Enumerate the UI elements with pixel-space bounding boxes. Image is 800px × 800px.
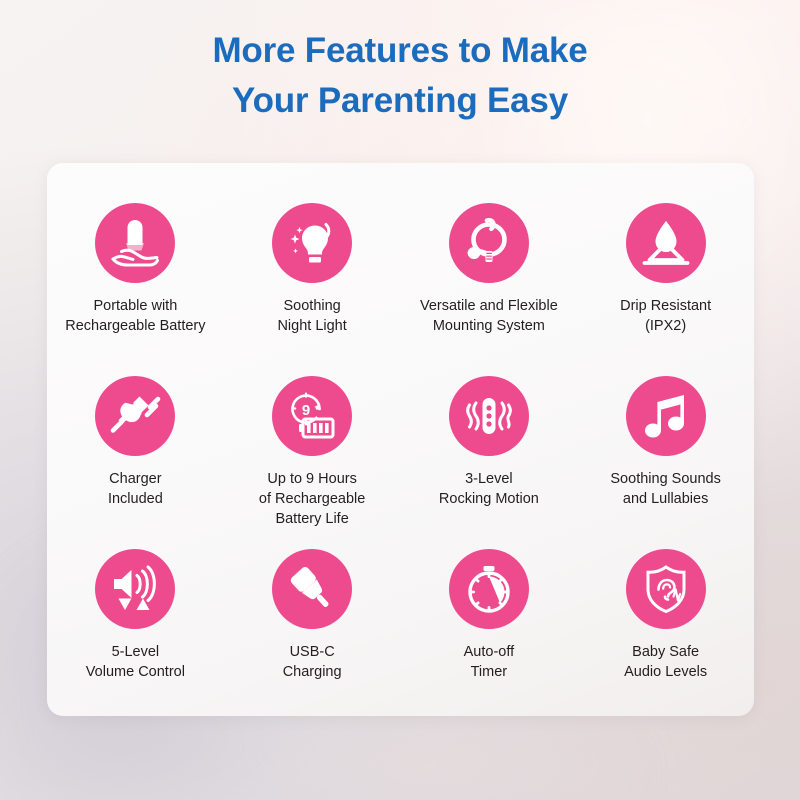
power-plug-icon [95,376,175,456]
features-card: Portable with Rechargeable Battery Sooth… [47,163,754,716]
portable-device-in-hand-icon [95,203,175,283]
page-title-line-2: Your Parenting Easy [0,76,800,126]
feature-item: Portable with Rechargeable Battery [47,193,224,366]
feature-label: Versatile and Flexible Mounting System [420,296,558,336]
feature-item: USB-C Charging [224,539,401,712]
page-title: More Features to Make Your Parenting Eas… [0,26,800,125]
feature-label: Baby Safe Audio Levels [624,642,707,682]
feature-item: 3-Level Rocking Motion [401,366,578,539]
feature-label: Portable with Rechargeable Battery [65,296,205,336]
feature-label: Auto-off Timer [464,642,515,682]
feature-label: Soothing Sounds and Lullabies [610,469,720,509]
feature-item: Auto-off Timer [401,539,578,712]
feature-label: Soothing Night Light [277,296,346,336]
feature-label: Up to 9 Hours of Rechargeable Battery Li… [259,469,365,529]
feature-item: Baby Safe Audio Levels [577,539,754,712]
feature-label: USB-C Charging [283,642,342,682]
feature-label: Drip Resistant (IPX2) [620,296,711,336]
feature-label: Charger Included [108,469,163,509]
feature-label: 5-Level Volume Control [86,642,185,682]
feature-item: 9 Up to 9 Hours of Rechargeable Battery … [224,366,401,539]
clock-battery-9-hours-icon: 9 [272,376,352,456]
feature-item: Versatile and Flexible Mounting System [401,193,578,366]
svg-text:9: 9 [302,402,310,419]
rocking-vibration-icon [449,376,529,456]
shield-ear-audio-safe-icon [626,549,706,629]
feature-item: Charger Included [47,366,224,539]
water-drop-resistant-icon [626,203,706,283]
stopwatch-timer-icon [449,549,529,629]
feature-item: Soothing Sounds and Lullabies [577,366,754,539]
page-title-line-1: More Features to Make [0,26,800,76]
night-light-bulb-icon [272,203,352,283]
usb-c-connector-icon [272,549,352,629]
feature-item: Soothing Night Light [224,193,401,366]
features-grid: Portable with Rechargeable Battery Sooth… [47,193,754,712]
flexible-mounting-strap-icon [449,203,529,283]
feature-item: Drip Resistant (IPX2) [577,193,754,366]
speaker-volume-icon [95,549,175,629]
music-note-icon [626,376,706,456]
feature-label: 3-Level Rocking Motion [439,469,539,509]
feature-item: 5-Level Volume Control [47,539,224,712]
